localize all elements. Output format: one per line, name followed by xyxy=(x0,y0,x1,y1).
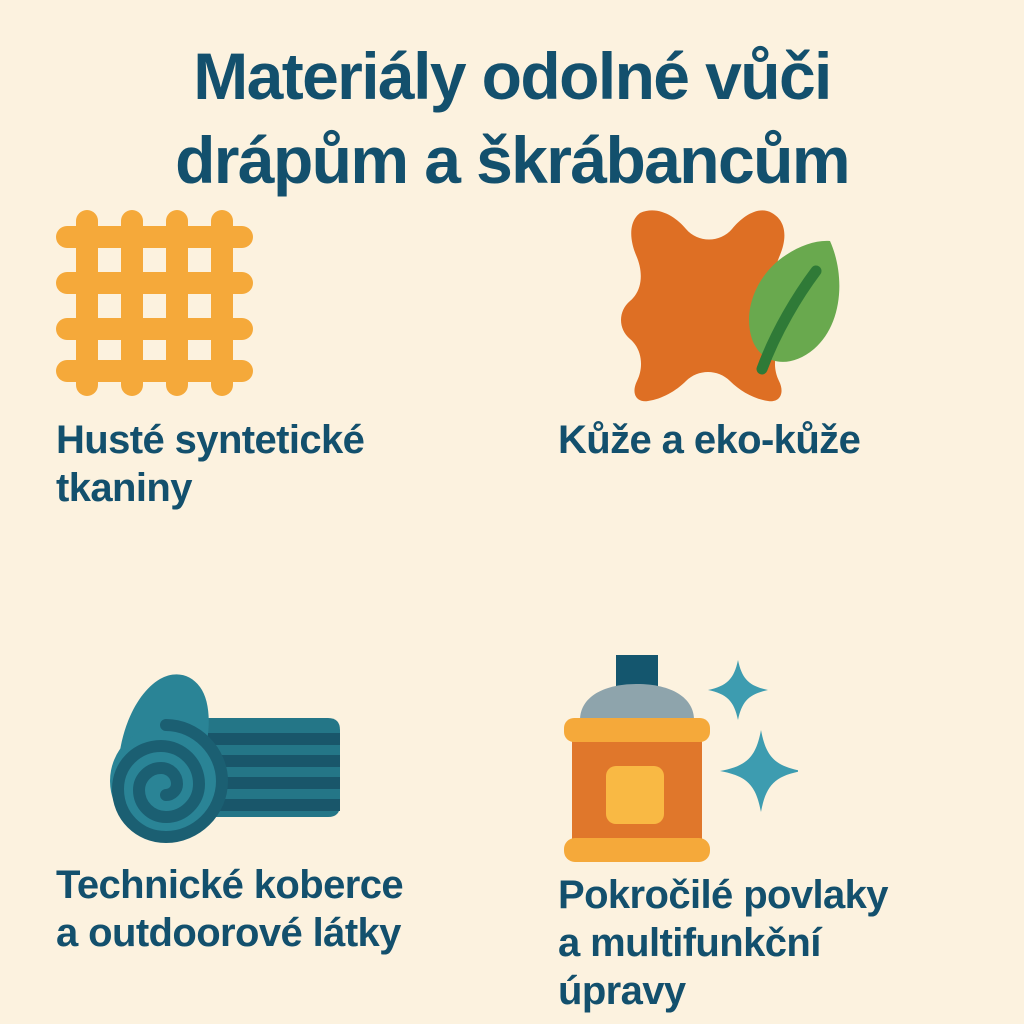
sparkle-small-icon xyxy=(708,660,768,720)
spray-bottom-band xyxy=(564,838,710,862)
label-line-1: Pokročilé povlaky xyxy=(558,871,978,919)
woven-grid-icon xyxy=(56,210,256,396)
spray-cap-dome xyxy=(580,684,694,720)
label-line-1: Kůže a eko-kůže xyxy=(558,416,978,464)
title-line-1: Materiály odolné vůči xyxy=(40,34,984,118)
label-line-1: Technické koberce xyxy=(56,861,476,909)
feature-card-grid: Husté syntetické tkaniny Kůže a eko-kůže xyxy=(0,205,1024,1015)
spray-label-square xyxy=(606,766,664,824)
feature-card-leather-and-eco-leather: Kůže a eko-kůže xyxy=(512,205,1024,572)
label-line-2: a outdoorové látky xyxy=(56,909,476,957)
label-line-2: tkaniny xyxy=(56,464,476,512)
icon-container xyxy=(558,205,1000,400)
feature-card-technical-carpets: Technické koberce a outdoorové látky xyxy=(0,572,512,1015)
label-line-3: úpravy xyxy=(558,967,978,1015)
icon-container xyxy=(56,660,488,845)
infographic-poster: Materiály odolné vůči drápům a škrábanců… xyxy=(0,0,1024,1024)
spray-top-band xyxy=(564,718,710,742)
feature-card-advanced-coatings: Pokročilé povlaky a multifunkční úpravy xyxy=(512,572,1024,1015)
icon-container xyxy=(56,205,488,400)
feature-card-label: Husté syntetické tkaniny xyxy=(56,416,476,512)
sparkle-large-icon xyxy=(720,730,798,812)
feature-card-dense-synthetic-fabrics: Husté syntetické tkaniny xyxy=(0,205,512,572)
title-line-2: drápům a škrábancům xyxy=(40,118,984,202)
leather-hide-leaf-icon xyxy=(558,203,858,403)
feature-card-label: Technické koberce a outdoorové látky xyxy=(56,861,476,957)
feature-card-label: Kůže a eko-kůže xyxy=(558,416,978,464)
spray-can-sparkle-icon xyxy=(558,650,798,865)
icon-container xyxy=(558,660,1000,855)
page-title: Materiály odolné vůči drápům a škrábanců… xyxy=(0,34,1024,202)
rolled-carpet-icon xyxy=(56,663,346,843)
label-line-1: Husté syntetické xyxy=(56,416,476,464)
label-line-2: a multifunkční xyxy=(558,919,978,967)
feature-card-label: Pokročilé povlaky a multifunkční úpravy xyxy=(558,871,978,1015)
